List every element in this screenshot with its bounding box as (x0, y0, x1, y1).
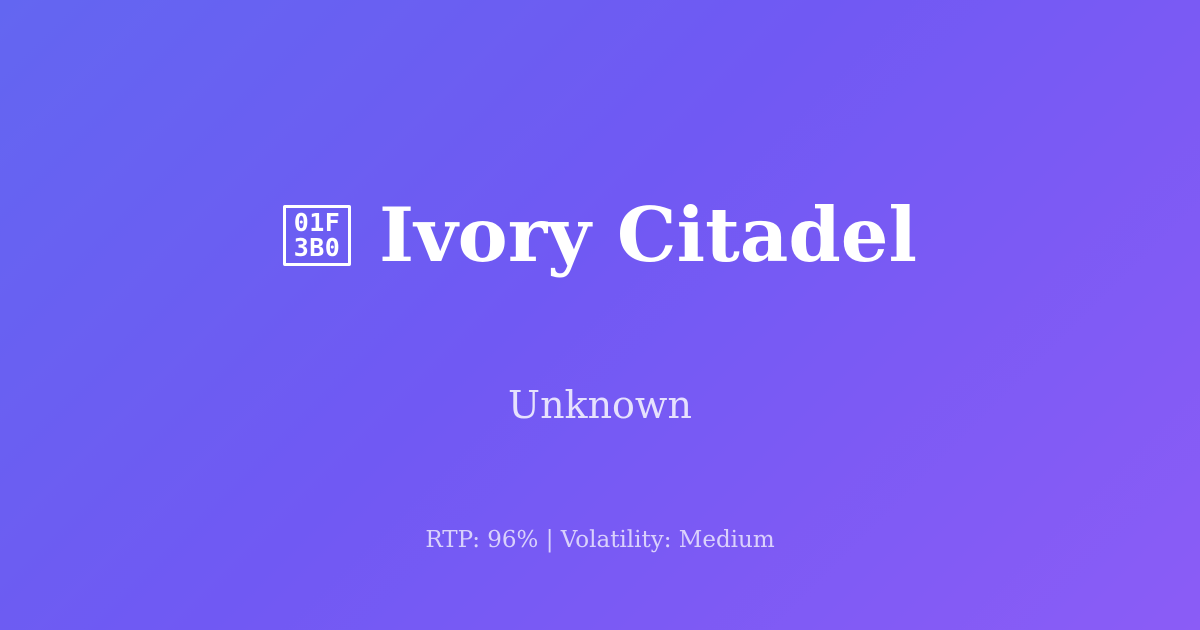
game-title: Ivory Citadel (379, 198, 917, 273)
slot-machine-emoji-tofu-icon: 01F 3B0 (283, 205, 351, 266)
tofu-codepoint-top: 01F (294, 211, 341, 236)
game-meta-line: RTP: 96% | Volatility: Medium (0, 529, 1200, 552)
game-subtitle: Unknown (508, 386, 692, 424)
tofu-codepoint-bottom: 3B0 (294, 236, 341, 261)
title-row: 01F 3B0 Ivory Citadel (283, 148, 917, 324)
og-preview-card: 01F 3B0 Ivory Citadel Unknown RTP: 96% |… (0, 0, 1200, 630)
